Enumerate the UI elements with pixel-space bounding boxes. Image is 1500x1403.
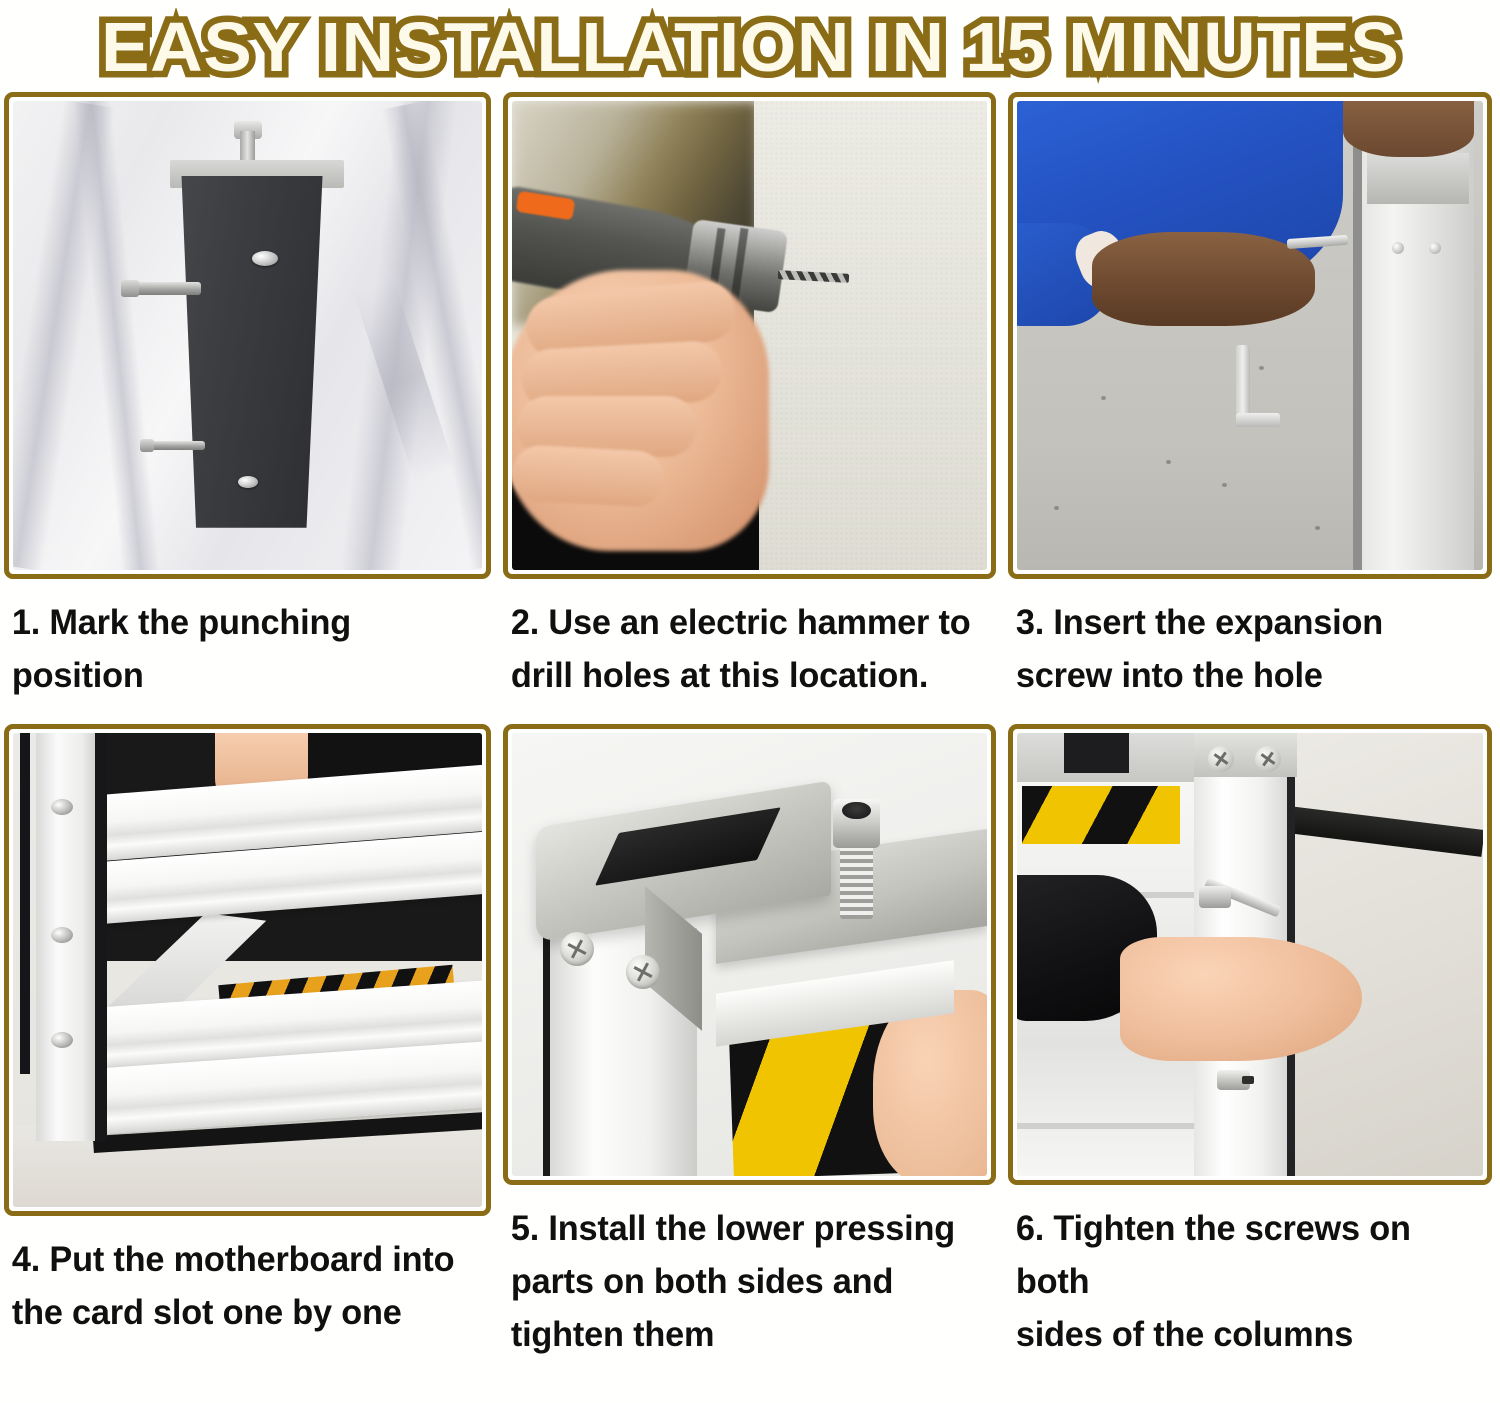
step-5-caption-line-1: 5. Install the lower pressing	[511, 1202, 980, 1255]
step-3-caption: 3. Insert the expansion screw into the h…	[1008, 579, 1482, 702]
step-3: 3. Insert the expansion screw into the h…	[1008, 92, 1500, 724]
step-1-photo	[13, 101, 482, 570]
step-3-caption-line-1: 3. Insert the expansion	[1016, 596, 1477, 649]
step-4: 4. Put the motherboard into the card slo…	[4, 724, 503, 1361]
step-4-caption: 4. Put the motherboard into the card slo…	[4, 1216, 481, 1339]
step-6-photo	[1017, 733, 1483, 1176]
step-3-caption-line-2: screw into the hole	[1016, 649, 1477, 702]
step-6: 6. Tighten the screws on both sides of t…	[1008, 724, 1500, 1361]
title-banner: EASY INSTALLATION IN 15 MINUTES	[0, 0, 1500, 92]
step-5-caption: 5. Install the lower pressing parts on b…	[503, 1185, 986, 1361]
step-1-photo-frame	[4, 92, 491, 579]
step-2: 2. Use an electric hammer to drill holes…	[503, 92, 1008, 724]
step-5: 5. Install the lower pressing parts on b…	[503, 724, 1008, 1361]
step-4-caption-line-2: the card slot one by one	[12, 1286, 476, 1339]
step-1-caption-line-1: 1. Mark the punching position	[12, 596, 476, 702]
step-1-caption: 1. Mark the punching position	[4, 579, 481, 702]
step-5-caption-line-3: tighten them	[511, 1308, 980, 1361]
step-4-caption-line-1: 4. Put the motherboard into	[12, 1233, 476, 1286]
step-3-photo	[1017, 101, 1483, 570]
step-6-photo-frame	[1008, 724, 1492, 1185]
step-4-photo	[13, 733, 482, 1207]
step-2-photo-frame	[503, 92, 996, 579]
step-5-caption-line-2: parts on both sides and	[511, 1255, 980, 1308]
step-2-caption-line-2: drill holes at this location.	[511, 649, 980, 702]
step-5-photo	[512, 733, 987, 1176]
step-2-caption-line-1: 2. Use an electric hammer to	[511, 596, 980, 649]
step-6-caption: 6. Tighten the screws on both sides of t…	[1008, 1185, 1482, 1361]
step-3-photo-frame	[1008, 92, 1492, 579]
step-6-caption-line-2: sides of the columns	[1016, 1308, 1477, 1361]
step-2-caption: 2. Use an electric hammer to drill holes…	[503, 579, 986, 702]
step-6-caption-line-1: 6. Tighten the screws on both	[1016, 1202, 1477, 1308]
step-4-photo-frame	[4, 724, 491, 1216]
page-title: EASY INSTALLATION IN 15 MINUTES	[101, 10, 1399, 84]
step-5-photo-frame	[503, 724, 996, 1185]
step-1: 1. Mark the punching position	[4, 92, 503, 724]
step-2-photo	[512, 101, 987, 570]
installation-steps-grid: 1. Mark the punching position	[0, 92, 1500, 1361]
